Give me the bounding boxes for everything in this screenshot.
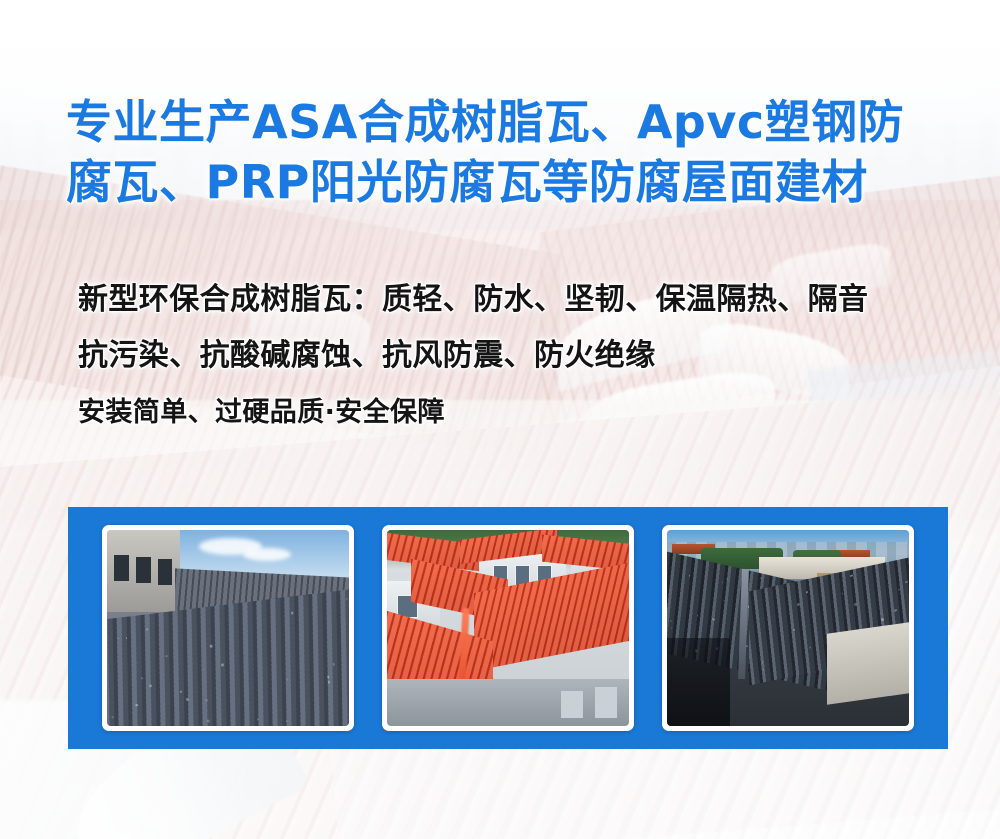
tile-highlight xyxy=(112,717,114,719)
tile-highlight xyxy=(291,612,294,615)
tile-highlight xyxy=(712,618,715,621)
tile-highlight xyxy=(797,603,800,606)
tile-highlight xyxy=(333,663,336,666)
headline: 专业生产ASA合成树脂瓦、Apvc塑钢防 腐瓦、PRP阳光防腐瓦等防腐屋面建材 xyxy=(66,92,946,212)
tile-highlight xyxy=(793,629,795,631)
tile-highlight xyxy=(147,629,149,631)
tile-highlight xyxy=(347,599,349,601)
tile-highlight xyxy=(221,664,224,667)
tile-highlight xyxy=(136,704,139,707)
tile-highlight xyxy=(723,599,725,601)
tile-highlight xyxy=(257,719,260,722)
tile-highlight xyxy=(166,656,168,658)
photo1-window-3 xyxy=(158,559,173,584)
tile-highlight xyxy=(759,577,762,580)
red-resin-tile-roof-photo xyxy=(387,530,629,726)
tile-highlight xyxy=(726,578,728,580)
charcoal-resin-tile-roof-photo xyxy=(667,530,909,726)
banner-content: 专业生产ASA合成树脂瓦、Apvc塑钢防 腐瓦、PRP阳光防腐瓦等防腐屋面建材 … xyxy=(0,0,1000,839)
tile-highlight xyxy=(809,647,811,649)
tile-highlight xyxy=(180,691,182,693)
subheadline: 新型环保合成树脂瓦：质轻、防水、坚韧、保温隔热、隔音 抗污染、抗酸碱腐蚀、抗风防… xyxy=(78,272,968,442)
headline-line-2: 腐瓦、PRP阳光防腐瓦等防腐屋面建材 xyxy=(66,152,946,212)
tile-highlight xyxy=(287,721,289,723)
tile-highlight xyxy=(207,720,210,723)
tile-highlight xyxy=(870,600,871,601)
photo1-window-2 xyxy=(136,557,151,582)
tile-highlight xyxy=(721,582,723,584)
tile-highlight xyxy=(150,685,153,688)
tile-highlight xyxy=(670,620,672,622)
photo2-lower-window-1 xyxy=(561,691,583,718)
subheadline-line-3: 安装简单、过硬品质·安全保障 xyxy=(78,384,968,442)
tile-highlight xyxy=(696,615,698,617)
tile-highlight xyxy=(187,698,190,701)
tile-highlight xyxy=(806,592,808,594)
headline-line-1: 专业生产ASA合成树脂瓦、Apvc塑钢防 xyxy=(66,92,946,152)
tile-highlight xyxy=(328,681,331,684)
tile-highlight xyxy=(287,679,289,681)
tile-highlight xyxy=(785,581,786,582)
tile-highlight xyxy=(142,678,145,681)
tile-highlight xyxy=(881,618,884,622)
tile-highlight xyxy=(671,628,673,630)
photo2-lower-window-2 xyxy=(595,687,617,718)
tile-highlight xyxy=(762,662,764,664)
tile-highlight xyxy=(118,638,119,639)
subheadline-line-2: 抗污染、抗酸碱腐蚀、抗风防震、防火绝缘 xyxy=(78,328,968,384)
tile-highlight xyxy=(328,676,330,678)
tile-highlight xyxy=(842,593,843,595)
tile-highlight xyxy=(898,588,900,591)
tile-highlight xyxy=(688,575,690,577)
tile-highlight xyxy=(850,574,853,577)
tile-highlight xyxy=(206,699,209,702)
tile-highlight xyxy=(895,610,897,613)
subheadline-line-1: 新型环保合成树脂瓦：质轻、防水、坚韧、保温隔热、隔音 xyxy=(78,272,968,328)
tile-highlight xyxy=(204,669,206,671)
tile-highlight xyxy=(210,645,213,648)
tile-highlight xyxy=(905,581,908,584)
photo2-parapet xyxy=(387,679,629,726)
gallery-item-1[interactable] xyxy=(102,525,354,731)
photo1-window-1 xyxy=(114,555,129,580)
gray-resin-tile-roof-photo xyxy=(107,530,349,726)
tile-highlight xyxy=(854,603,857,606)
tile-highlight xyxy=(821,603,822,604)
gallery-item-3[interactable] xyxy=(662,525,914,731)
gallery-item-2[interactable] xyxy=(382,525,634,731)
product-photo-gallery xyxy=(68,507,948,749)
tile-highlight xyxy=(126,637,128,639)
photo3-shadow xyxy=(667,638,730,726)
product-banner: 专业生产ASA合成树脂瓦、Apvc塑钢防 腐瓦、PRP阳光防腐瓦等防腐屋面建材 … xyxy=(0,0,1000,839)
